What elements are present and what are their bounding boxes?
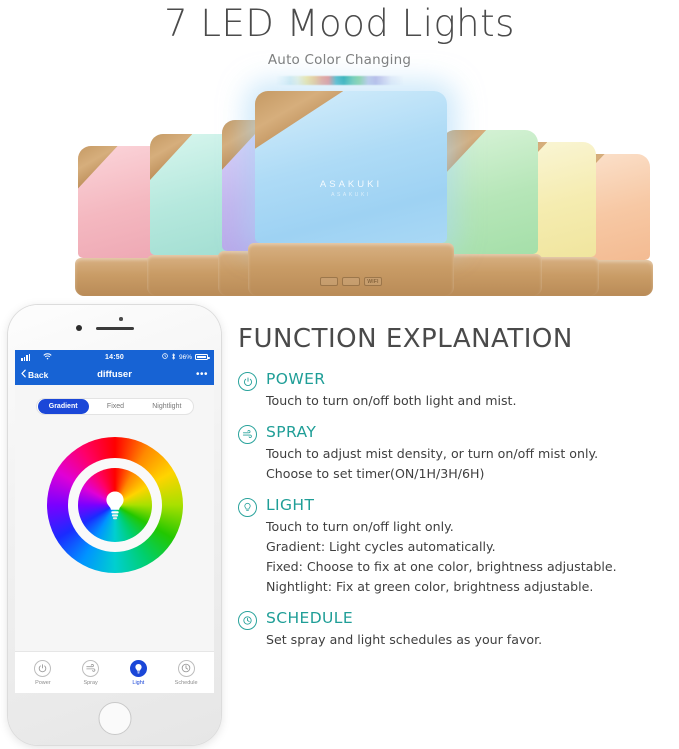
function-explanation: FUNCTION EXPLANATION POWER Touch to turn…: [238, 324, 674, 662]
function-line: Fixed: Choose to fix at one color, brigh…: [266, 557, 674, 577]
diffuser-blue: ASAKUKI ASAKUKI WIFI: [255, 91, 447, 296]
bluetooth-icon: [171, 353, 176, 362]
light-shade: [442, 130, 538, 254]
diffuser-green: [442, 130, 538, 296]
function-line: Nightlight: Fix at green color, brightne…: [266, 577, 674, 597]
bulb-icon: [130, 660, 147, 677]
function-item-spray: SPRAY Touch to adjust mist density, or t…: [238, 423, 674, 484]
wifi-hardware-button[interactable]: WIFI: [364, 277, 382, 286]
bulb-icon: [102, 490, 128, 520]
headline-text: LED Mood Lights: [200, 2, 515, 45]
function-item-light: LIGHT Touch to turn on/off light only. G…: [238, 496, 674, 597]
function-item-power: POWER Touch to turn on/off both light an…: [238, 370, 674, 411]
proximity-sensor-icon: [119, 317, 123, 321]
page-title: 7 LED Mood Lights: [0, 2, 679, 46]
segment-nightlight[interactable]: Nightlight: [141, 399, 192, 414]
function-line: Gradient: Light cycles automatically.: [266, 537, 674, 557]
tab-light[interactable]: Light: [116, 660, 160, 686]
function-line: Touch to turn on/off both light and mist…: [266, 391, 674, 411]
function-item-schedule: SCHEDULE Set spray and light schedules a…: [238, 609, 674, 650]
product-lineup: ASAKUKI ASAKUKI WIFI: [0, 91, 679, 296]
tab-label: Schedule: [175, 680, 198, 686]
wood-base: WIFI: [248, 243, 454, 296]
mode-segmented-control[interactable]: Gradient Fixed Nightlight: [36, 398, 194, 415]
function-heading: SCHEDULE: [266, 609, 674, 627]
more-options-button[interactable]: •••: [196, 372, 208, 378]
function-heading: POWER: [266, 370, 674, 388]
headline-number: 7: [164, 2, 188, 45]
light-hardware-button[interactable]: [342, 277, 360, 286]
front-camera-icon: [76, 325, 82, 331]
earpiece-speaker: [96, 327, 134, 330]
base-button-row: WIFI: [320, 277, 382, 286]
function-heading: SPRAY: [266, 423, 674, 441]
spray-icon: [82, 660, 99, 677]
nav-bar: Back diffuser •••: [15, 364, 214, 385]
phone-screen: 14:50 96% Back: [15, 350, 214, 693]
section-title: FUNCTION EXPLANATION: [238, 324, 674, 354]
light-shade: ASAKUKI ASAKUKI: [255, 91, 447, 243]
color-wheel[interactable]: [47, 437, 183, 573]
home-button[interactable]: [98, 702, 131, 735]
power-icon: [238, 372, 257, 391]
battery-icon: [195, 354, 208, 361]
page-subtitle: Auto Color Changing: [0, 52, 679, 68]
brand-mark: ASAKUKI ASAKUKI: [255, 179, 447, 198]
tab-label: Light: [132, 680, 144, 686]
function-heading: LIGHT: [266, 496, 674, 514]
status-bar: 14:50 96%: [15, 350, 214, 364]
spray-icon: [238, 425, 257, 444]
header: 7 LED Mood Lights Auto Color Changing: [0, 0, 679, 85]
app-content: Gradient Fixed Nightlight: [15, 385, 214, 693]
phone-mockup: 14:50 96% Back: [8, 305, 221, 745]
power-icon: [34, 660, 51, 677]
brand-name: ASAKUKI: [255, 179, 447, 190]
segment-gradient[interactable]: Gradient: [38, 399, 89, 414]
function-line: Choose to set timer(ON/1H/3H/6H): [266, 464, 674, 484]
tab-power[interactable]: Power: [21, 660, 65, 686]
clock-icon: [238, 611, 257, 630]
tab-spray[interactable]: Spray: [69, 660, 113, 686]
function-line: Touch to turn on/off light only.: [266, 517, 674, 537]
alarm-icon: [162, 353, 168, 361]
nav-title: diffuser: [15, 369, 214, 380]
clock-icon: [178, 660, 195, 677]
tab-label: Power: [35, 680, 51, 686]
tab-label: Spray: [83, 680, 97, 686]
power-hardware-button[interactable]: [320, 277, 338, 286]
battery-percent: 96%: [179, 354, 192, 361]
color-spectrum-bar: [276, 76, 404, 85]
product-marketing-page: 7 LED Mood Lights Auto Color Changing: [0, 0, 679, 749]
segment-fixed[interactable]: Fixed: [90, 399, 141, 414]
bottom-tab-bar[interactable]: Power Spray Light: [15, 651, 214, 693]
function-line: Set spray and light schedules as your fa…: [266, 630, 674, 650]
brand-subtext: ASAKUKI: [255, 192, 447, 198]
function-line: Touch to adjust mist density, or turn on…: [266, 444, 674, 464]
bulb-icon: [238, 498, 257, 517]
tab-schedule[interactable]: Schedule: [164, 660, 208, 686]
